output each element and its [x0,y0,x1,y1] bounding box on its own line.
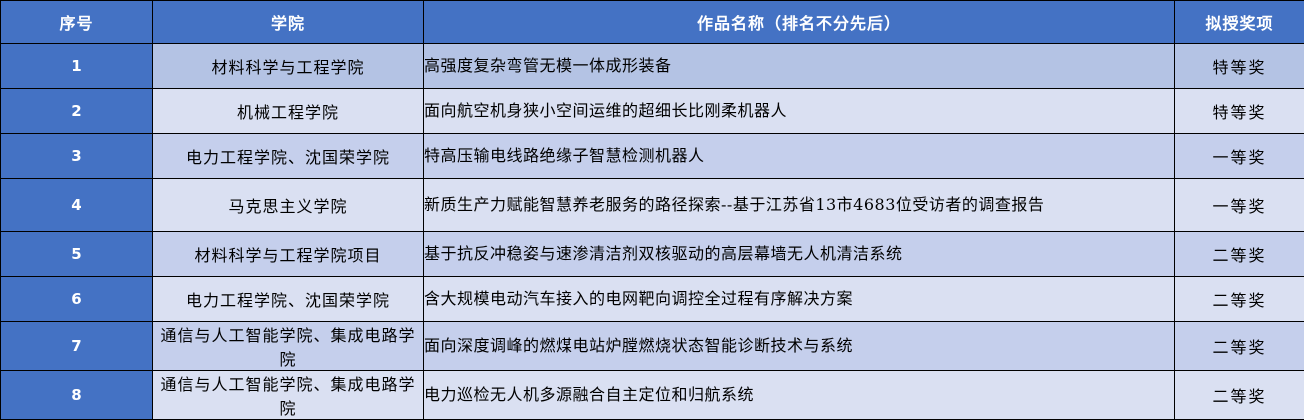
row-award: 特等奖 [1175,44,1304,89]
row-work-title: 特高压输电线路绝缘子智慧检测机器人 [424,134,1175,179]
column-header-seq: 序号 [1,1,153,44]
column-header-work: 作品名称（排名不分先后） [424,1,1175,44]
row-college: 材料科学与工程学院项目 [153,232,424,277]
table-row: 5 材料科学与工程学院项目 基于抗反冲稳姿与速渗清洁剂双核驱动的高层幕墙无人机清… [1,232,1304,277]
row-work-title: 基于抗反冲稳姿与速渗清洁剂双核驱动的高层幕墙无人机清洁系统 [424,232,1175,277]
row-work-title: 电力巡检无人机多源融合自主定位和归航系统 [424,371,1175,420]
row-sequence-number: 7 [1,322,153,371]
row-sequence-number: 3 [1,134,153,179]
row-work-title: 新质生产力赋能智慧养老服务的路径探索--基于江苏省13市4683位受访者的调查报… [424,179,1175,232]
table-header: 序号 学院 作品名称（排名不分先后） 拟授奖项 [1,1,1304,44]
row-award: 二等奖 [1175,371,1304,420]
table-body: 1 材料科学与工程学院 高强度复杂弯管无模一体成形装备 特等奖 2 机械工程学院… [1,44,1304,420]
table-row: 8 通信与人工智能学院、集成电路学院 电力巡检无人机多源融合自主定位和归航系统 … [1,371,1304,420]
row-work-title: 面向航空机身狭小空间运维的超细长比刚柔机器人 [424,89,1175,134]
row-college: 电力工程学院、沈国荣学院 [153,277,424,322]
table-row: 3 电力工程学院、沈国荣学院 特高压输电线路绝缘子智慧检测机器人 一等奖 [1,134,1304,179]
row-award: 二等奖 [1175,277,1304,322]
row-college: 机械工程学院 [153,89,424,134]
table-row: 2 机械工程学院 面向航空机身狭小空间运维的超细长比刚柔机器人 特等奖 [1,89,1304,134]
row-award: 一等奖 [1175,179,1304,232]
table-row: 6 电力工程学院、沈国荣学院 含大规模电动汽车接入的电网靶向调控全过程有序解决方… [1,277,1304,322]
header-row: 序号 学院 作品名称（排名不分先后） 拟授奖项 [1,1,1304,44]
award-list-table: 序号 学院 作品名称（排名不分先后） 拟授奖项 1 材料科学与工程学院 高强度复… [0,0,1304,420]
row-award: 特等奖 [1175,89,1304,134]
row-college: 马克思主义学院 [153,179,424,232]
table-row: 4 马克思主义学院 新质生产力赋能智慧养老服务的路径探索--基于江苏省13市46… [1,179,1304,232]
table-row: 1 材料科学与工程学院 高强度复杂弯管无模一体成形装备 特等奖 [1,44,1304,89]
row-college: 材料科学与工程学院 [153,44,424,89]
row-college: 电力工程学院、沈国荣学院 [153,134,424,179]
column-header-award: 拟授奖项 [1175,1,1304,44]
row-college: 通信与人工智能学院、集成电路学院 [153,322,424,371]
row-award: 一等奖 [1175,134,1304,179]
row-award: 二等奖 [1175,322,1304,371]
row-work-title: 高强度复杂弯管无模一体成形装备 [424,44,1175,89]
row-award: 二等奖 [1175,232,1304,277]
row-work-title: 含大规模电动汽车接入的电网靶向调控全过程有序解决方案 [424,277,1175,322]
row-sequence-number: 8 [1,371,153,420]
row-sequence-number: 2 [1,89,153,134]
row-work-title: 面向深度调峰的燃煤电站炉膛燃烧状态智能诊断技术与系统 [424,322,1175,371]
row-sequence-number: 6 [1,277,153,322]
row-sequence-number: 4 [1,179,153,232]
row-sequence-number: 1 [1,44,153,89]
table-row: 7 通信与人工智能学院、集成电路学院 面向深度调峰的燃煤电站炉膛燃烧状态智能诊断… [1,322,1304,371]
column-header-college: 学院 [153,1,424,44]
row-college: 通信与人工智能学院、集成电路学院 [153,371,424,420]
row-sequence-number: 5 [1,232,153,277]
